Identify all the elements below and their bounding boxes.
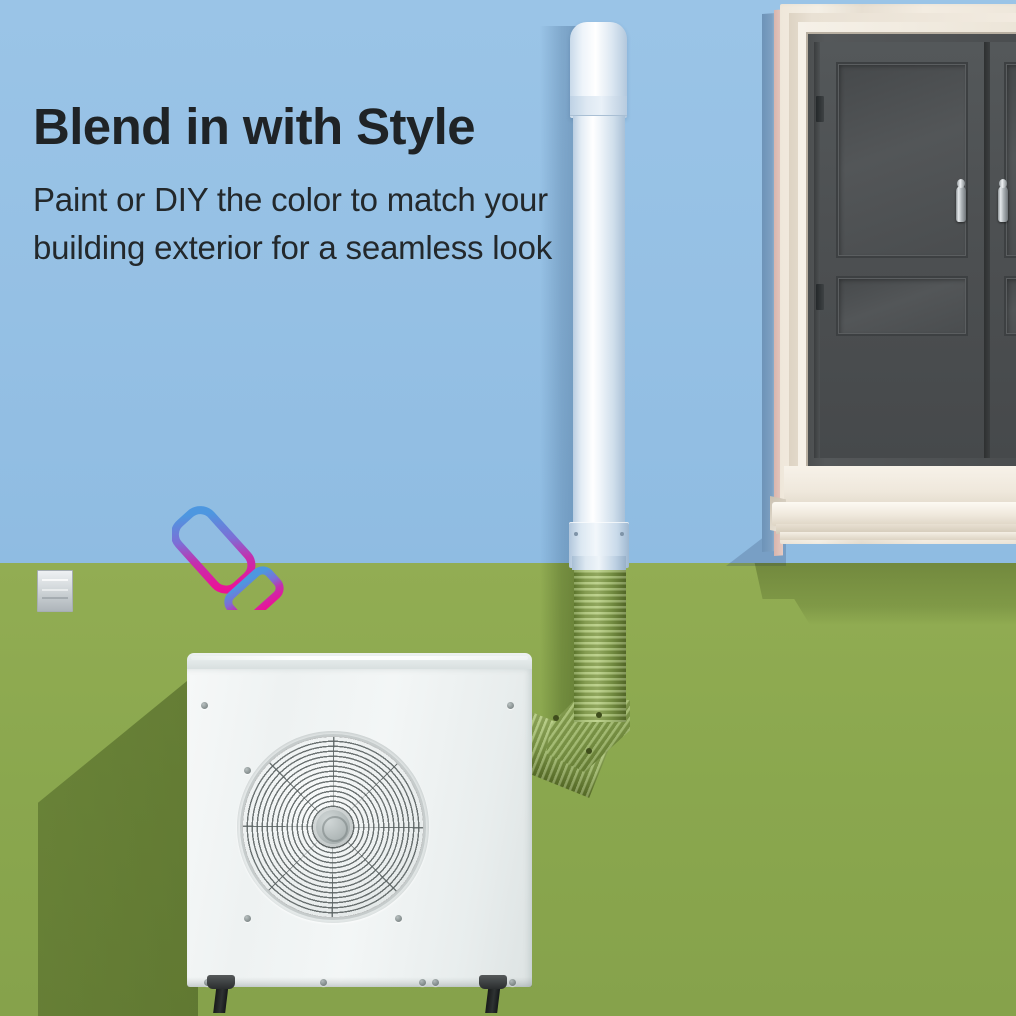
ac-screw-base-7 [509, 979, 516, 986]
ac-screw-base-4 [419, 979, 426, 986]
window-sill-molding-2 [780, 532, 1016, 540]
promo-scene: Blend in with Style Paint or DIY the col… [0, 0, 1016, 1016]
ac-foot-left [207, 975, 235, 989]
flexible-duct-vertical-painted [574, 570, 626, 722]
ac-foot-right [479, 975, 507, 989]
ac-screw-low-left [244, 915, 251, 922]
ac-screw-top-right [507, 702, 514, 709]
shutter-handle-right[interactable] [998, 186, 1008, 222]
promo-text-block: Blend in with Style Paint or DIY the col… [33, 100, 753, 272]
ac-screw-base-5 [432, 979, 439, 986]
ac-screw-base-3 [320, 979, 327, 986]
ac-screw-mid-left [244, 767, 251, 774]
promo-subtitle: Paint or DIY the color to match your bui… [33, 176, 753, 272]
outdoor-heat-pump-unit [187, 653, 532, 987]
shutter-panel-upper-left [836, 62, 968, 258]
duct-screw-1 [553, 715, 559, 721]
ac-screw-low-right [395, 915, 402, 922]
ac-fan-hub [313, 807, 353, 847]
shutter-panel-lower-left [836, 276, 968, 336]
window-sill-nose [772, 502, 1016, 526]
paint-roller-icon [172, 470, 312, 610]
ac-screw-top-left [201, 702, 208, 709]
ac-top-highlight [191, 656, 528, 660]
duct-screw-3 [586, 748, 592, 754]
window-assembly [762, 0, 1016, 572]
shutter-hinge-top [816, 96, 824, 122]
shutter-panel-lower-right [1004, 276, 1016, 336]
window-shutters [808, 34, 1016, 466]
duct-screw-2 [596, 712, 602, 718]
ac-cabinet-face [187, 669, 532, 987]
sill-bracket [37, 570, 73, 612]
promo-subtitle-line-1: Paint or DIY the color to match your [33, 176, 753, 224]
shutter-panel-upper-right [1004, 62, 1016, 258]
page-title: Blend in with Style [33, 100, 753, 154]
promo-subtitle-line-2: building exterior for a seamless look [33, 224, 753, 272]
shutter-hinge-bottom [816, 284, 824, 310]
shutter-handle-left[interactable] [956, 186, 966, 222]
duct-collar [572, 556, 626, 570]
